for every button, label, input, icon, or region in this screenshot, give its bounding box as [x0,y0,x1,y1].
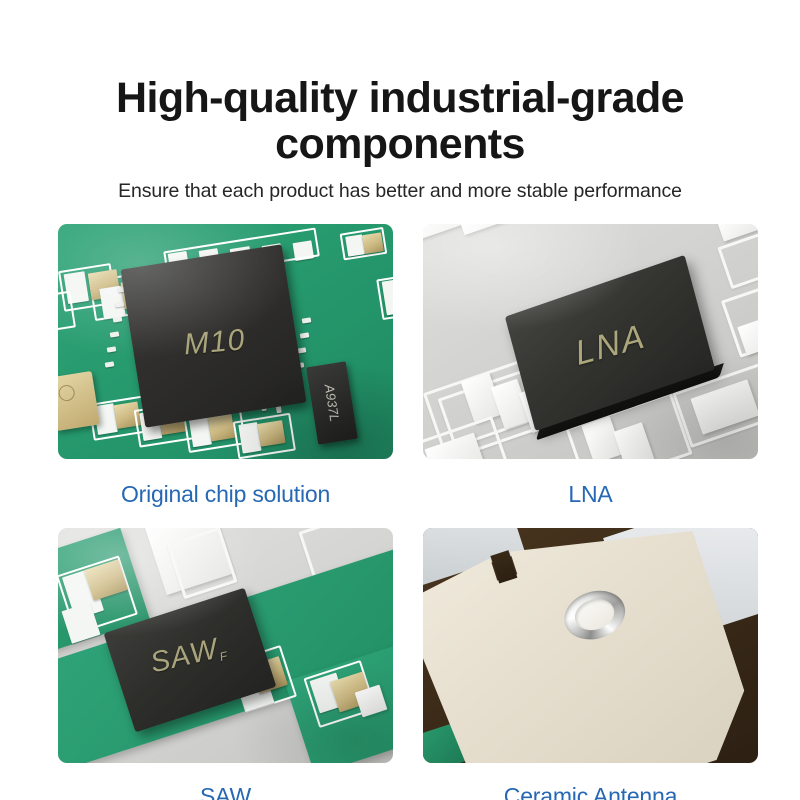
component-caption-ceramic-antenna: Ceramic Antenna [423,763,758,800]
component-caption-saw: SAW [58,763,393,800]
product-feature-infographic: High-quality industrial-grade components… [0,0,800,800]
chip-marking-subscript: F [218,649,229,665]
component-card-lna[interactable]: LNA LNA [423,224,758,528]
component-card-ceramic-antenna[interactable]: Ceramic Antenna [423,528,758,800]
page-title: High-quality industrial-grade components [0,76,800,167]
component-caption-original-chip-solution: Original chip solution [58,459,393,528]
component-caption-lna: LNA [423,459,758,528]
component-photo-saw: SAWF [58,528,393,763]
component-card-saw[interactable]: SAWF SAW [58,528,393,800]
component-card-original-chip-solution[interactable]: M10 A937L Original chip solution [58,224,393,528]
component-photo-original-chip-solution: M10 A937L [58,224,393,459]
header-section: High-quality industrial-grade components… [0,0,800,203]
chip-a937l-marking-label: A937L [322,383,343,422]
component-grid: M10 A937L Original chip solution [58,224,758,800]
page-subtitle: Ensure that each product has better and … [0,180,800,203]
component-photo-ceramic-antenna [423,528,758,763]
chip-m10: M10 [120,244,306,428]
component-photo-lna: LNA [423,224,758,459]
